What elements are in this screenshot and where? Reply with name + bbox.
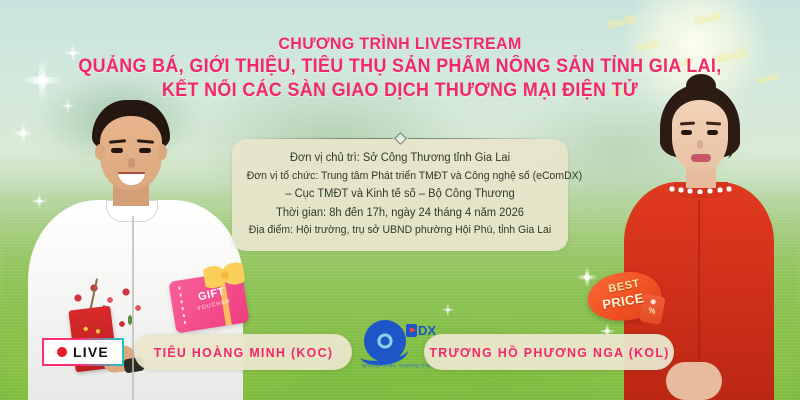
host-name-kol: TRƯƠNG HỒ PHƯƠNG NGA (KOL) [429,345,669,360]
host-name-pill-kol: TRƯƠNG HỒ PHƯƠNG NGA (KOL) [424,334,674,370]
host-name-pill-koc: TIÊU HOÀNG MINH (KOC) [134,334,352,370]
best-price-tag-symbol: % [644,305,659,317]
host-name-koc: TIÊU HOÀNG MINH (KOC) [153,345,333,360]
headline-line-3: KẾT NỐI CÁC SÀN GIAO DỊCH THƯƠNG MẠI ĐIỆ… [24,80,776,102]
ornamental-divider [250,133,550,143]
info-line-time: Thời gian: 8h đến 17h, ngày 24 tháng 4 n… [247,204,554,223]
live-record-dot-icon [57,347,67,357]
logo-wordmark: DX [418,324,436,337]
info-line-organizer-parent: – Cục TMĐT và Kinh tế số – Bộ Công Thươn… [247,185,554,204]
info-line-organizer: Đơn vị tổ chức: Trung tâm Phát triển TMĐ… [247,168,554,185]
live-badge: LIVE [42,338,124,366]
headline-block: CHƯƠNG TRÌNH LIVESTREAM QUẢNG BÁ, GIỚI T… [0,34,800,102]
headline-line-1: CHƯƠNG TRÌNH LIVESTREAM [24,34,776,54]
event-info-panel: Đơn vị chủ trì: Sở Công Thương tỉnh Gia … [232,139,568,251]
headline-line-2: QUẢNG BÁ, GIỚI THIỆU, TIÊU THỤ SẢN PHẨM … [24,56,776,78]
play-icon [406,324,417,337]
diamond-ornament-icon [394,132,407,145]
info-line-location: Địa điểm: Hội trường, trụ sở UBND phường… [247,222,554,239]
live-badge-label: LIVE [73,344,109,360]
livestream-promo-banner: CHƯƠNG TRÌNH LIVESTREAM QUẢNG BÁ, GIỚI T… [0,0,800,400]
best-price-sticker: % BEST PRICE [585,267,673,333]
info-line-organizer-host: Đơn vị chủ trì: Sở Công Thương tỉnh Gia … [247,149,554,168]
